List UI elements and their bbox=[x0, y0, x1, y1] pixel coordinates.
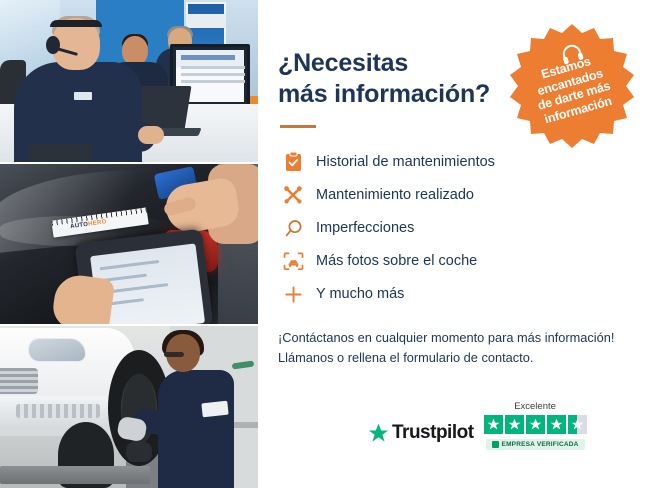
trustpilot-rating: Excelente bbox=[484, 401, 587, 450]
trustpilot-star-icon bbox=[368, 423, 389, 444]
contact-text: ¡Contáctanos en cualquier momento para m… bbox=[278, 328, 622, 368]
feature-item-imperfecciones: Imperfecciones bbox=[278, 212, 622, 244]
photo1-headset-earcup bbox=[46, 36, 60, 54]
star-half bbox=[568, 415, 587, 434]
trustpilot-logo: Trustpilot bbox=[368, 422, 474, 450]
car-scan-icon bbox=[278, 252, 308, 271]
clipboard-check-icon bbox=[278, 152, 308, 172]
feature-label: Más fotos sobre el coche bbox=[316, 253, 477, 269]
photo3-mechanic-logo bbox=[201, 400, 228, 417]
feature-item-mas: Y mucho más bbox=[278, 278, 622, 310]
photo1-screen-row bbox=[181, 73, 245, 76]
call-center-agents-photo bbox=[0, 0, 258, 162]
magnifier-icon bbox=[278, 219, 308, 238]
photo-collage: AUTOHERO bbox=[0, 0, 258, 488]
page-title-line1: ¿Necesitas bbox=[278, 49, 408, 77]
photo3-air-vent bbox=[16, 404, 100, 418]
rating-label: Excelente bbox=[514, 401, 556, 412]
photo2-tablet-line bbox=[100, 260, 160, 270]
photo3-safety-glasses bbox=[164, 352, 184, 357]
star-rating bbox=[484, 415, 587, 434]
page-title-line2: más información? bbox=[278, 80, 490, 108]
photo1-screen-row bbox=[181, 66, 245, 69]
feature-label: Historial de mantenimientos bbox=[316, 154, 495, 170]
feature-item-fotos: Más fotos sobre el coche bbox=[278, 245, 622, 277]
feature-label: Y mucho más bbox=[316, 286, 404, 302]
photo3-glove-lower bbox=[126, 442, 152, 462]
photo1-screen-row bbox=[181, 80, 245, 83]
feature-item-mantenimiento: Mantenimiento realizado bbox=[278, 179, 622, 211]
info-banner: AUTOHERO bbox=[0, 0, 650, 488]
car-inspection-ruler-photo: AUTOHERO bbox=[0, 164, 258, 323]
photo1-poster-strip bbox=[186, 14, 226, 28]
trustpilot-wordmark: Trustpilot bbox=[392, 422, 474, 444]
contact-line2: Llámanos o rellena el formulario de cont… bbox=[278, 350, 533, 365]
contact-line1: ¡Contáctanos en cualquier momento para m… bbox=[278, 330, 614, 345]
feature-label: Imperfecciones bbox=[316, 220, 414, 236]
photo1-screen-bar bbox=[181, 55, 235, 60]
mechanic-wheel-photo bbox=[0, 326, 258, 488]
promo-starburst-badge: Estamos encantados de darte más informac… bbox=[508, 22, 636, 150]
photo3-car-lift bbox=[0, 466, 150, 484]
photo1-name-badge bbox=[74, 92, 92, 100]
content-panel: ¿Necesitas más información? Estamos enca… bbox=[258, 0, 650, 488]
photo1-agent-hand bbox=[138, 126, 164, 144]
crossed-tools-icon bbox=[278, 185, 308, 205]
star-filled bbox=[505, 415, 524, 434]
star-filled bbox=[547, 415, 566, 434]
star-filled bbox=[484, 415, 503, 434]
feature-list: Historial de mantenimientos M bbox=[278, 146, 622, 310]
photo1-headset-band bbox=[50, 20, 102, 27]
photo1-tablet bbox=[28, 144, 92, 160]
verified-label: EMPRESA VERIFICADA bbox=[502, 441, 579, 448]
page-title: ¿Necesitas más información? bbox=[278, 48, 508, 109]
photo3-grille bbox=[0, 368, 38, 394]
verified-check-icon bbox=[492, 441, 499, 448]
verified-company-badge: EMPRESA VERIFICADA bbox=[486, 439, 585, 450]
feature-item-historial: Historial de mantenimientos bbox=[278, 146, 622, 178]
feature-label: Mantenimiento realizado bbox=[316, 187, 474, 203]
trustpilot-block: Trustpilot Excelente bbox=[368, 401, 587, 450]
star-filled bbox=[526, 415, 545, 434]
plus-icon bbox=[278, 285, 308, 304]
title-underline bbox=[280, 125, 316, 128]
photo3-headlight bbox=[28, 338, 86, 362]
